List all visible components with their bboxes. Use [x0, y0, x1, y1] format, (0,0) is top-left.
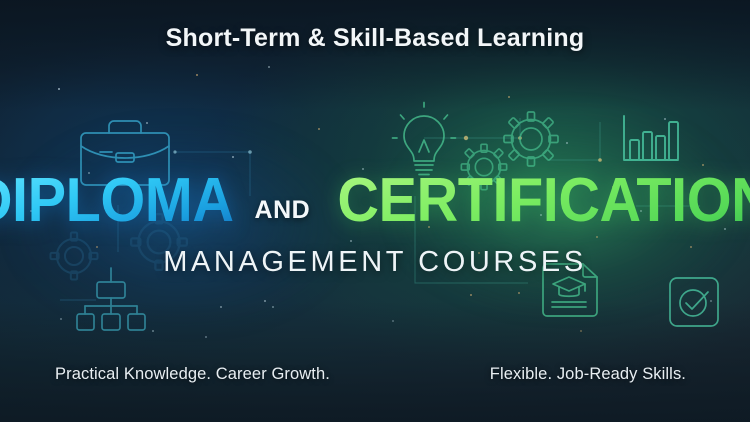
tagline-left: Practical Knowledge. Career Growth. — [55, 365, 330, 384]
tagline-right: Flexible. Job-Ready Skills. — [490, 365, 686, 384]
headline: DIPLOMA AND CERTIFICATION — [0, 172, 750, 231]
background-bottom-fade — [0, 302, 750, 422]
headline-word-diploma: DIPLOMA — [0, 172, 234, 231]
background-top-fade — [0, 0, 750, 110]
promo-banner: Short-Term & Skill-Based Learning DIPLOM… — [0, 0, 750, 422]
headline-conjunction: AND — [255, 196, 311, 225]
headline-word-certification: CERTIFICATION — [338, 172, 750, 231]
subtitle: MANAGEMENT COURSES — [0, 246, 750, 279]
eyebrow-heading: Short-Term & Skill-Based Learning — [0, 24, 750, 53]
